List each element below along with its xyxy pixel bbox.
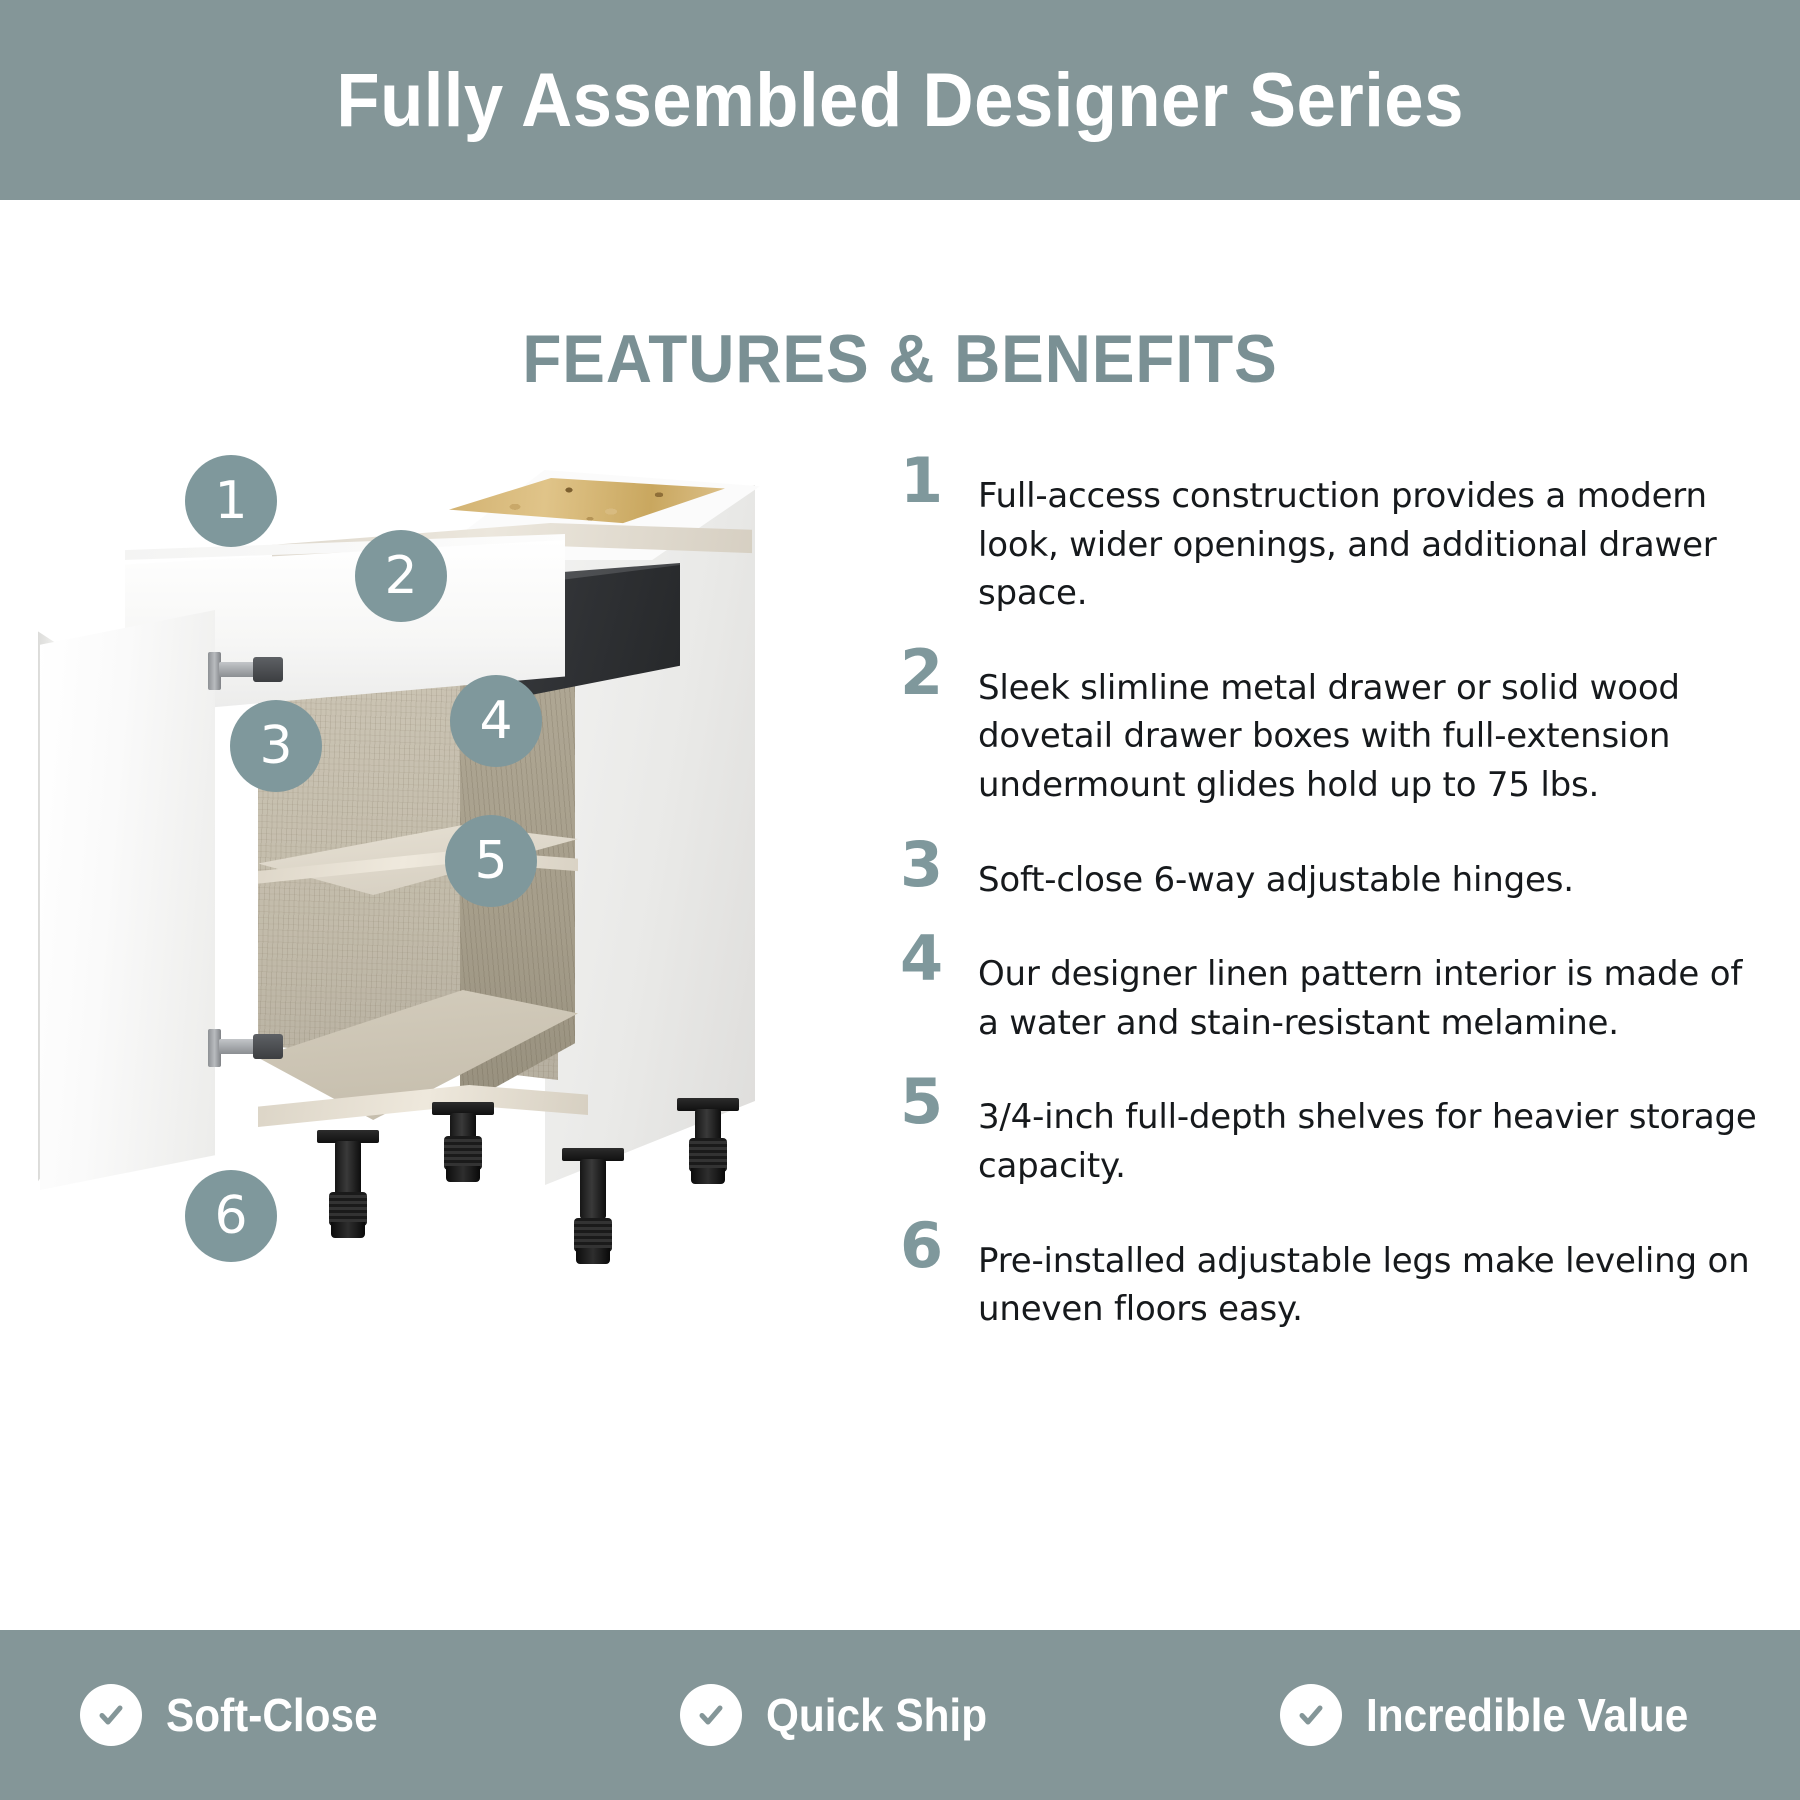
feature-description: Soft-close 6-way adjustable hinges. <box>978 834 1760 905</box>
footer-bar: Soft-Close Quick Ship Incredible Value <box>0 1630 1800 1800</box>
callout-badge-2: 2 <box>355 530 447 622</box>
features-list: 1 Full-access construction provides a mo… <box>900 450 1760 1358</box>
feature-item: 6 Pre-installed adjustable legs make lev… <box>900 1215 1760 1334</box>
footer-badge-soft-close: Soft-Close <box>0 1684 600 1746</box>
footer-badge-incredible-value: Incredible Value <box>1200 1684 1800 1746</box>
feature-number: 4 <box>900 928 978 989</box>
leg-foot <box>576 1248 610 1264</box>
check-circle-icon <box>1280 1684 1342 1746</box>
hinge-cup <box>253 1034 283 1059</box>
soft-close-hinge-upper <box>208 648 284 692</box>
callout-badge-1: 1 <box>185 455 277 547</box>
leg-foot <box>331 1222 365 1238</box>
check-circle-icon <box>680 1684 742 1746</box>
leg-adjustment-collar <box>329 1192 367 1226</box>
product-image: 1 2 3 4 5 6 <box>30 430 820 1550</box>
leg-adjustment-collar <box>574 1218 612 1252</box>
feature-number: 5 <box>900 1071 978 1132</box>
callout-badge-3: 3 <box>230 700 322 792</box>
footer-badge-label: Incredible Value <box>1366 1688 1688 1742</box>
callout-badge-4: 4 <box>450 675 542 767</box>
callout-badge-5: 5 <box>445 815 537 907</box>
feature-item: 3 Soft-close 6-way adjustable hinges. <box>900 834 1760 905</box>
feature-item: 2 Sleek slimline metal drawer or solid w… <box>900 642 1760 810</box>
feature-number: 2 <box>900 642 978 703</box>
main-content: 1 2 3 4 5 6 1 Full-access construction p… <box>0 430 1800 1550</box>
feature-description: Full-access construction provides a mode… <box>978 450 1760 618</box>
soft-close-hinge-lower <box>208 1025 284 1069</box>
footer-badge-label: Quick Ship <box>766 1688 987 1742</box>
cabinet-illustration: 1 2 3 4 5 6 <box>30 430 820 1550</box>
feature-description: Our designer linen pattern interior is m… <box>978 928 1760 1047</box>
leg-post <box>580 1159 606 1219</box>
callout-badge-6: 6 <box>185 1170 277 1262</box>
page-title: Fully Assembled Designer Series <box>336 57 1463 144</box>
leg-adjustment-collar <box>444 1136 482 1170</box>
footer-badge-quick-ship: Quick Ship <box>600 1684 1200 1746</box>
feature-item: 4 Our designer linen pattern interior is… <box>900 928 1760 1047</box>
feature-number: 1 <box>900 450 978 511</box>
feature-description: 3/4-inch full-depth shelves for heavier … <box>978 1071 1760 1190</box>
feature-item: 1 Full-access construction provides a mo… <box>900 450 1760 618</box>
cabinet-bottom-front-edge <box>258 1085 588 1145</box>
header-bar: Fully Assembled Designer Series <box>0 0 1800 200</box>
feature-description: Pre-installed adjustable legs make level… <box>978 1215 1760 1334</box>
cabinet-door-panel <box>40 610 215 1190</box>
feature-number: 3 <box>900 834 978 895</box>
leg-adjustment-collar <box>689 1138 727 1172</box>
feature-description: Sleek slimline metal drawer or solid woo… <box>978 642 1760 810</box>
section-heading: FEATURES & BENEFITS <box>54 320 1746 398</box>
footer-badge-label: Soft-Close <box>166 1688 378 1742</box>
hinge-cup <box>253 657 283 682</box>
leg-foot <box>446 1166 480 1182</box>
feature-item: 5 3/4-inch full-depth shelves for heavie… <box>900 1071 1760 1190</box>
check-circle-icon <box>80 1684 142 1746</box>
feature-number: 6 <box>900 1215 978 1276</box>
leg-foot <box>691 1168 725 1184</box>
